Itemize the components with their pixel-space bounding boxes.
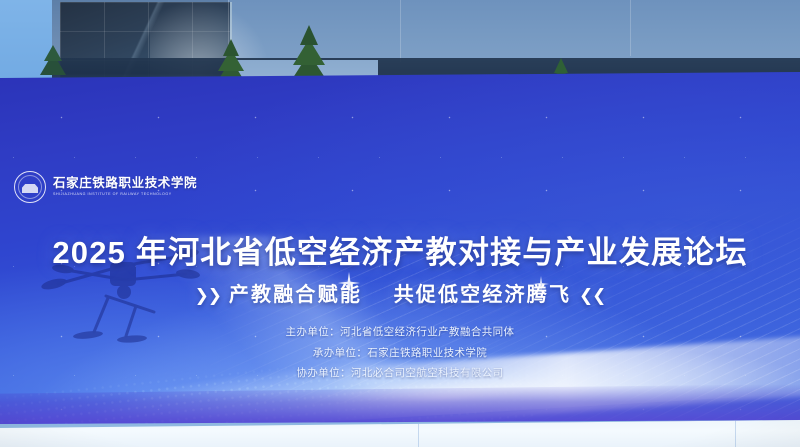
institute-logo-text: 石家庄铁路职业技术学院 SHIJIAZHUANG INSTITUTE OF RA…	[53, 176, 197, 197]
facade-seam	[400, 0, 401, 62]
subtitle-phrase-1: 产教融合赋能	[229, 284, 362, 306]
forum-main-title: 2025 年河北省低空经济产教对接与产业发展论坛	[0, 227, 800, 272]
floor-tile-seam	[418, 420, 419, 447]
forum-subtitle: ❯❯ 产教融合赋能 共促低空经济腾飞 ❮❮	[0, 278, 800, 307]
institute-logo: 石家庄铁路职业技术学院 SHIJIAZHUANG INSTITUTE OF RA…	[14, 171, 197, 203]
subtitle-phrase-2: 共促低空经济腾飞	[394, 284, 572, 306]
left-chevron-icon: ❯❯	[195, 286, 222, 305]
organizer-line: 承办单位：石家庄铁路职业技术学院	[0, 348, 800, 359]
evergreen-tree	[40, 35, 66, 75]
institute-emblem-icon	[14, 171, 46, 203]
event-backdrop-banner: 石家庄铁路职业技术学院 SHIJIAZHUANG INSTITUTE OF RA…	[0, 72, 800, 424]
institute-name-en: SHIJIAZHUANG INSTITUTE OF RAILWAY TECHNO…	[53, 192, 197, 197]
organizer-list: 主办单位：河北省低空经济行业产教融合共同体 承办单位：石家庄铁路职业技术学院 协…	[0, 327, 800, 389]
floor	[0, 420, 800, 447]
institute-name-cn: 石家庄铁路职业技术学院	[53, 176, 197, 190]
organizer-line: 协办单位：河北必合司空航空科技有限公司	[0, 368, 800, 379]
screenshot-root: 石家庄铁路职业技术学院 SHIJIAZHUANG INSTITUTE OF RA…	[0, 0, 800, 447]
organizer-line: 主办单位：河北省低空经济行业产教融合共同体	[0, 327, 800, 338]
floor-tile-seam	[735, 420, 736, 447]
facade-seam	[630, 0, 631, 56]
right-chevron-icon: ❮❮	[579, 286, 606, 305]
